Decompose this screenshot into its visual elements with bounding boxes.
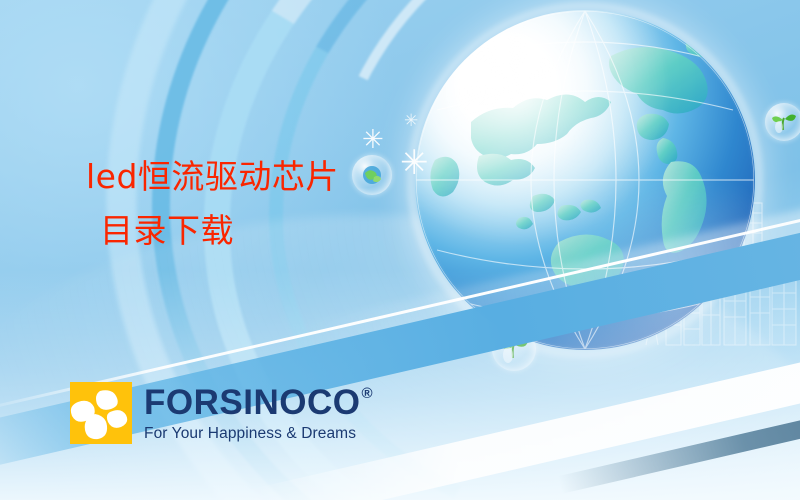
starburst-flower-icon: ✳ — [362, 126, 384, 152]
brand-tagline: For Your Happiness & Dreams — [144, 426, 373, 442]
four-petal-pinwheel-icon — [70, 382, 132, 444]
brand-logo: FORSINOCO ® For Your Happiness & Dreams — [70, 382, 373, 444]
brand-name: FORSINOCO ® — [144, 385, 373, 420]
starburst-flower-icon: ✳ — [404, 112, 418, 129]
promo-banner: ✳ ✳ ✳ — [0, 0, 800, 500]
headline-line-1: led恒流驱动芯片 — [86, 160, 426, 193]
brand-name-text: FORSINOCO — [144, 385, 360, 420]
headline: led恒流驱动芯片 目录下载 — [86, 160, 426, 247]
bubble-sprout-icon — [765, 103, 800, 141]
headline-line-2: 目录下载 — [86, 214, 426, 247]
registered-trademark-icon: ® — [361, 386, 373, 401]
